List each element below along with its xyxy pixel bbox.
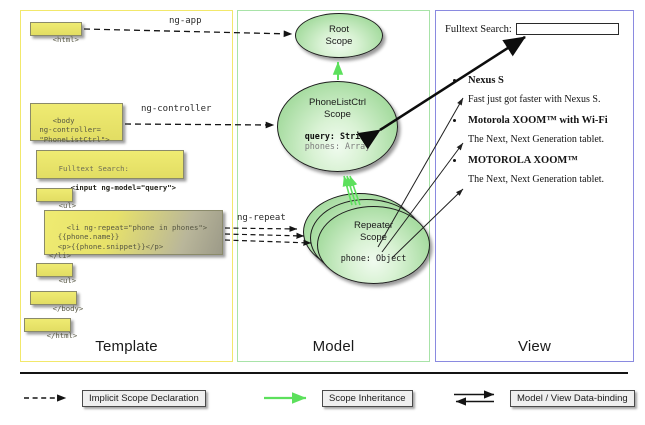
view-phone-list: Nexus S Fast just got faster with Nexus … [453,75,633,195]
double-arrow-icon [448,388,504,408]
code-box-body-close-tag: </body> [30,291,77,305]
scope-phonelistctrl: PhoneListCtrlScope query: String phones:… [277,81,398,172]
code-box-body-open-tag: <body ng-controller= "PhoneListCtrl"> [30,103,123,141]
phone-snippet: The Next, Next Generation tablet. [453,174,633,186]
legend-label-implicit-scope-declaration: Implicit Scope Declaration [82,390,206,407]
legend-item-model-view-data-binding: Model / View Data-binding [448,388,635,408]
view-content: Fulltext Search: Nexus S Fast just got f… [436,11,633,361]
scope-root: RootScope [295,13,383,58]
edge-label-ng-repeat: ng-repeat [237,213,286,223]
panel-model: Model [237,10,430,362]
fulltext-search-label: Fulltext Search: [59,164,129,173]
legend-item-scope-inheritance: Scope Inheritance [260,388,413,408]
phone-name: Nexus S [453,75,633,87]
phone-snippet: The Next, Next Generation tablet. [453,134,633,146]
scope-repeater-title: RepeaterScope [318,207,429,243]
code-box-fulltext-search-snippet: Fulltext Search: <input ng-model="query"… [36,150,184,179]
phone-name: Motorola XOOM™ with Wi-Fi [453,115,633,127]
scope-repeater: RepeaterScope phone: Object [317,206,430,284]
legend-item-implicit-scope-declaration: Implicit Scope Declaration [20,388,206,408]
list-item: Motorola XOOM™ with Wi-Fi The Next, Next… [453,115,633,146]
phone-snippet: Fast just got faster with Nexus S. [453,94,633,106]
list-item: Nexus S Fast just got faster with Nexus … [453,75,633,106]
panel-view-label: View [436,338,633,355]
panel-view: Fulltext Search: Nexus S Fast just got f… [435,10,634,362]
dashed-arrow-icon [20,388,76,408]
legend-label-scope-inheritance: Scope Inheritance [322,390,413,407]
scope-root-title: RootScope [296,14,382,47]
list-item: MOTOROLA XOOM™ The Next, Next Generation… [453,155,633,186]
fulltext-search-code: <input ng-model="query"> [59,183,176,192]
bullet-icon [453,79,456,82]
code-box-li-ng-repeat: <li ng-repeat="phone in phones"> {{phone… [44,210,223,255]
diagram-canvas: Template <html> <body ng-controller= "Ph… [0,0,645,425]
green-arrow-icon [260,388,316,408]
edge-label-ng-controller: ng-controller [141,104,211,114]
panel-template-label: Template [21,338,232,355]
code-box-ul-second-tag: <ul> [36,263,73,277]
legend-label-model-view-data-binding: Model / View Data-binding [510,390,635,407]
phone-name: MOTOROLA XOOM™ [453,155,633,167]
edge-label-ng-app: ng-app [169,16,202,26]
scope-phonelistctrl-prop-phones: phones: Array [278,141,397,151]
view-search-input[interactable] [516,23,619,35]
code-box-html-open-tag: <html> [30,22,82,36]
view-search-row: Fulltext Search: [445,23,619,35]
legend-divider [20,372,628,374]
code-box-ul-open-tag: <ul> [36,188,73,202]
bullet-icon [453,159,456,162]
scope-phonelistctrl-title: PhoneListCtrlScope [278,82,397,120]
scope-phonelistctrl-prop-query: query: String [278,131,397,141]
scope-repeater-prop-phone: phone: Object [318,253,429,263]
code-box-html-close-tag: </html> [24,318,71,332]
view-search-label: Fulltext Search: [445,24,512,35]
panel-model-label: Model [238,338,429,355]
legend: Implicit Scope Declaration Scope Inherit… [20,380,628,420]
bullet-icon [453,119,456,122]
